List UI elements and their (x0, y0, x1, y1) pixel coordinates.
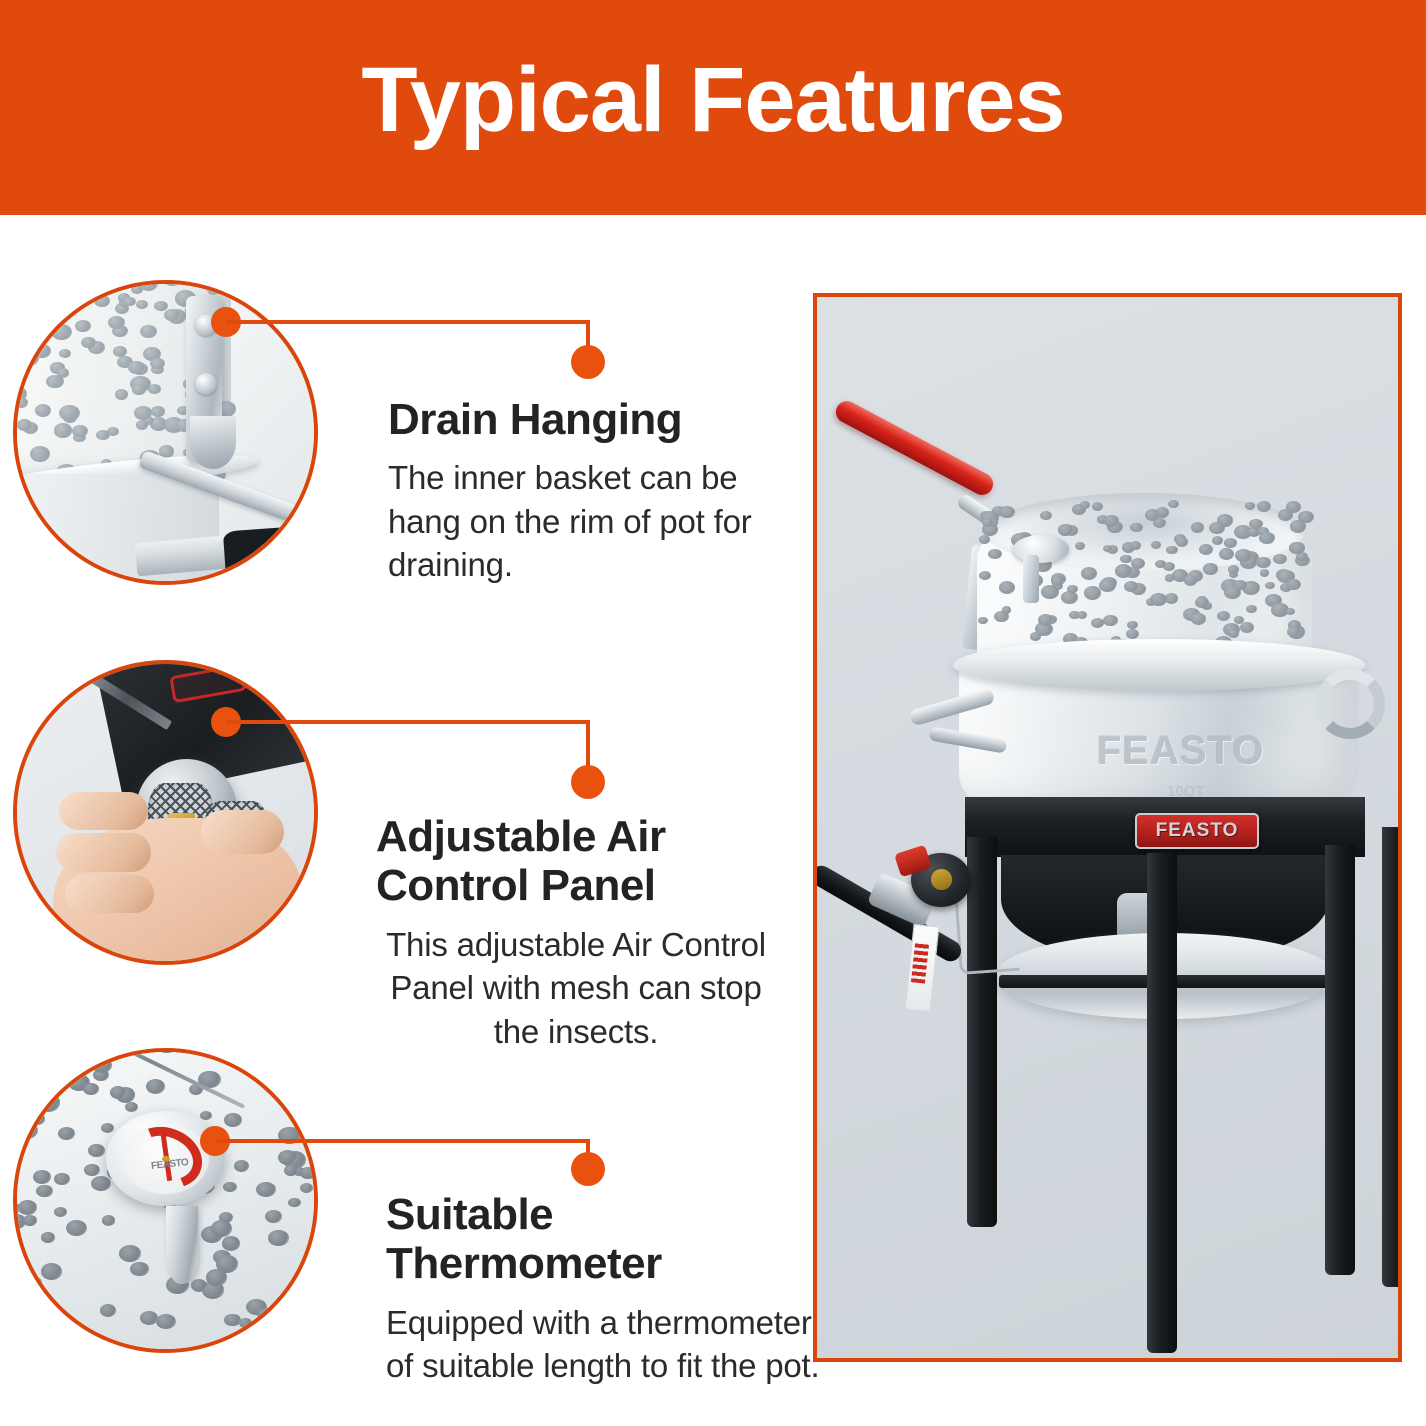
feature-body-thermometer: Equipped with a thermometer of suitable … (386, 1301, 826, 1388)
pot-brand-text: FEASTO (1097, 729, 1277, 783)
thermometer-gauge: FEASTO (106, 1111, 225, 1206)
stand-brand-badge: FEASTO (1135, 813, 1259, 849)
feature-text-thermometer: Suitable Thermometer Equipped with a the… (386, 1190, 826, 1388)
product-photo-frame: FEASTO 10QT FEASTO (813, 293, 1402, 1362)
stand-badge-text: FEASTO (1156, 820, 1239, 842)
callout-leader-line-3-horizontal (215, 1139, 590, 1143)
stand-leg-front-right (1325, 845, 1355, 1275)
feature-title-air-control-panel: Adjustable Air Control Panel (376, 812, 776, 911)
header-banner: Typical Features (0, 0, 1426, 215)
feature-photo-drain-hanging (13, 280, 318, 585)
feature-photo-air-control-panel (13, 660, 318, 965)
feature-title-drain-hanging: Drain Hanging (388, 395, 768, 444)
thumb (201, 810, 284, 855)
callout-leader-line-2-horizontal (226, 720, 590, 724)
thermometer-clip (166, 1206, 199, 1283)
feature-photo-thermometer: FEASTO (13, 1048, 318, 1353)
callout-leader-line-2-vertical (586, 720, 590, 766)
feature-body-air-control-panel: This adjustable Air Control Panel with m… (376, 923, 776, 1054)
thermometer-dial: FEASTO (122, 1124, 210, 1194)
stand-leg-back-right (1382, 827, 1402, 1287)
feature-text-air-control-panel: Adjustable Air Control Panel This adjust… (376, 812, 776, 1053)
drain-hanging-image (17, 284, 314, 581)
feature-text-drain-hanging: Drain Hanging The inner basket can be ha… (388, 395, 768, 587)
basket-hanger-wire (954, 887, 1020, 975)
feature-infographic-page: Typical Features Drain Hanging The inner… (0, 0, 1426, 1426)
handle-bracket (135, 535, 238, 576)
callout-end-dot-3 (571, 1152, 605, 1186)
callout-end-dot-2 (571, 765, 605, 799)
finger-2 (56, 833, 151, 872)
thermometer-image: FEASTO (17, 1052, 314, 1349)
finger-1 (65, 875, 154, 914)
pot-rim (953, 639, 1365, 691)
dark-background-corner (223, 524, 318, 585)
air-control-panel-image (17, 664, 314, 961)
feature-body-drain-hanging: The inner basket can be hang on the rim … (388, 456, 768, 587)
thermometer-head (1013, 535, 1069, 563)
thermometer-mount-clip (1023, 555, 1039, 603)
stand-leg-front-center (1147, 853, 1177, 1353)
finger-3 (59, 792, 148, 831)
feature-title-thermometer: Suitable Thermometer (386, 1190, 826, 1289)
callout-leader-line-1-horizontal (226, 320, 590, 324)
callout-end-dot-1 (571, 345, 605, 379)
pot-handle-right (1315, 669, 1385, 739)
page-title: Typical Features (361, 54, 1064, 146)
